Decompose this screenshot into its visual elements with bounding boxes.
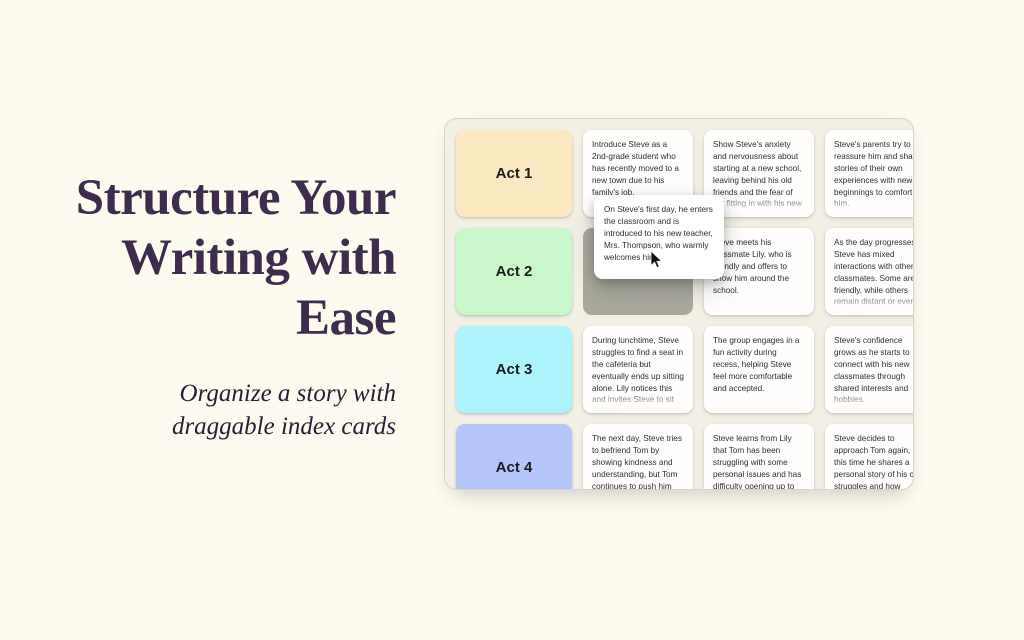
index-card[interactable]: As the day progresses, Steve has mixed i… xyxy=(825,228,914,315)
index-card[interactable]: The group engages in a fun activity duri… xyxy=(704,326,814,413)
index-card-text: Show Steve's anxiety and nervousness abo… xyxy=(713,139,805,217)
act-tile-3[interactable]: Act 3 xyxy=(456,326,572,413)
index-card-text: Steve learns from Lily that Tom has been… xyxy=(713,433,805,490)
page-title-line-3: Ease xyxy=(296,290,396,346)
hero-section: Structure Your Writing with Ease Organiz… xyxy=(0,168,420,444)
index-card-text: During lunchtime, Steve struggles to fin… xyxy=(592,335,684,413)
index-card[interactable]: The next day, Steve tries to befriend To… xyxy=(583,424,693,490)
index-card[interactable]: During lunchtime, Steve struggles to fin… xyxy=(583,326,693,413)
page-title-line-1: Structure Your xyxy=(76,170,396,226)
index-card[interactable]: Steve's parents try to reassure him and … xyxy=(825,130,914,217)
page-subtitle-line-1: Organize a story with xyxy=(180,380,396,407)
act-tile-label: Act 2 xyxy=(496,263,533,280)
page-subtitle-line-2: draggable index cards xyxy=(172,413,396,440)
story-board-container: Act 1 Introduce Steve as a 2nd-grade stu… xyxy=(444,118,914,490)
index-card-text: Steve decides to approach Tom again, but… xyxy=(834,433,914,490)
act-tile-label: Act 4 xyxy=(496,459,533,476)
page-subtitle: Organize a story with draggable index ca… xyxy=(0,377,396,445)
index-card[interactable]: Steve's confidence grows as he starts to… xyxy=(825,326,914,413)
act-tile-4[interactable]: Act 4 xyxy=(456,424,572,490)
index-card-text: Introduce Steve as a 2nd-grade student w… xyxy=(592,139,684,198)
index-card[interactable]: Steve decides to approach Tom again, but… xyxy=(825,424,914,490)
act-row: Act 4 The next day, Steve tries to befri… xyxy=(456,424,913,490)
index-card-text: The next day, Steve tries to befriend To… xyxy=(592,433,684,490)
index-card-text: Steve meets his classmate Lily, who is f… xyxy=(713,237,805,296)
act-tile-label: Act 3 xyxy=(496,361,533,378)
index-card-text: Steve's parents try to reassure him and … xyxy=(834,139,914,210)
act-tile-label: Act 1 xyxy=(496,165,533,182)
index-card-text: As the day progresses, Steve has mixed i… xyxy=(834,237,914,315)
arrow-pointer-icon xyxy=(650,250,663,269)
page-title: Structure Your Writing with Ease xyxy=(0,168,396,349)
act-tile-1[interactable]: Act 1 xyxy=(456,130,572,217)
page-title-line-2: Writing with xyxy=(121,230,396,286)
index-card-text: The group engages in a fun activity duri… xyxy=(713,335,805,394)
act-tile-2[interactable]: Act 2 xyxy=(456,228,572,315)
index-card[interactable]: Steve learns from Lily that Tom has been… xyxy=(704,424,814,490)
story-board[interactable]: Act 1 Introduce Steve as a 2nd-grade stu… xyxy=(444,118,914,490)
act-row: Act 3 During lunchtime, Steve struggles … xyxy=(456,326,913,413)
index-card-text: Steve's confidence grows as he starts to… xyxy=(834,335,914,406)
board-grid: Act 1 Introduce Steve as a 2nd-grade stu… xyxy=(445,119,913,490)
